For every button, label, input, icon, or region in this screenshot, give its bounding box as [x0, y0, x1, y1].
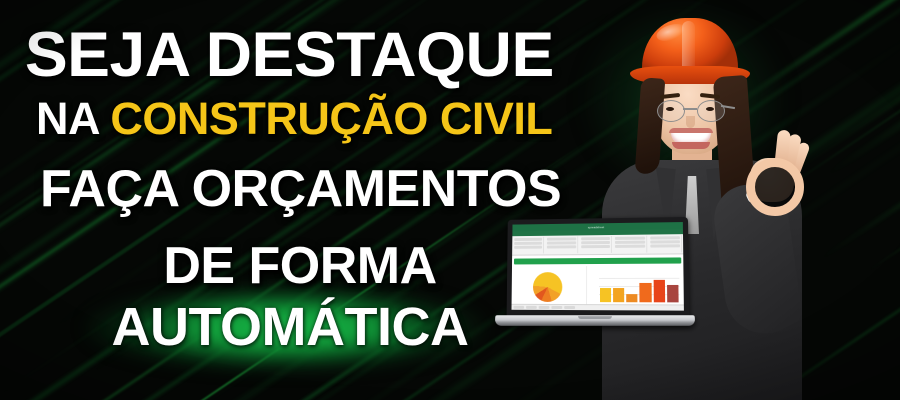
sheet-tab: [551, 306, 562, 309]
upper-lip: [669, 128, 713, 133]
eye-left: [666, 107, 674, 111]
headline-line-3: FAÇA ORÇAMENTOS: [40, 163, 561, 215]
ribbon-group: [649, 235, 682, 252]
sheet-tab: [539, 306, 550, 309]
headline-line-2-highlight: CONSTRUÇÃO CIVIL: [110, 93, 552, 144]
bar-chart-bar: [653, 280, 665, 303]
ribbon-button: [615, 237, 645, 240]
headline-line-2: NA CONSTRUÇÃO CIVIL: [36, 96, 552, 141]
laptop-notch: [578, 316, 612, 319]
ribbon-button: [547, 245, 576, 248]
lower-lip: [672, 142, 710, 149]
ok-hand-icon: [736, 128, 806, 206]
person-construction-engineer: [560, 0, 900, 400]
ribbon-button: [514, 242, 542, 245]
laptop-lid: spreadsheet: [507, 217, 690, 319]
ribbon-button: [581, 245, 610, 248]
ribbon-button: [650, 236, 680, 239]
ribbon-button: [581, 241, 610, 244]
bar-chart-bars: [600, 278, 679, 303]
eyeglasses-bridge: [683, 108, 697, 110]
bar-chart-bar: [667, 285, 679, 302]
promo-banner: SEJA DESTAQUE NA CONSTRUÇÃO CIVIL FAÇA O…: [0, 0, 900, 400]
headline-block: SEJA DESTAQUE NA CONSTRUÇÃO CIVIL FAÇA O…: [0, 0, 600, 400]
ribbon-group: [546, 236, 578, 253]
laptop-screen: spreadsheet: [512, 222, 684, 311]
headline-line-5: AUTOMÁTICA: [0, 300, 580, 354]
laptop-base: [495, 315, 696, 326]
bar-chart-bar: [626, 294, 637, 302]
sheet-header-banner: [514, 257, 681, 264]
sheet-tabs: [512, 304, 684, 311]
pie-chart-disc: [533, 272, 563, 302]
eye-right: [706, 107, 714, 111]
ribbon-button: [581, 237, 610, 240]
spreadsheet-ribbon: [512, 234, 683, 256]
ribbon-group: [513, 237, 544, 254]
laptop: spreadsheet: [495, 218, 695, 338]
ribbon-button: [615, 241, 645, 244]
ribbon-button: [547, 241, 576, 244]
ribbon-button: [650, 240, 680, 243]
bar-chart-bar: [600, 288, 611, 302]
ribbon-button: [514, 246, 542, 249]
worksheet: [512, 255, 684, 304]
ribbon-button: [650, 244, 680, 247]
ribbon-group: [580, 236, 612, 253]
bar-chart-bar: [613, 288, 624, 303]
sheet-tab: [526, 306, 537, 309]
eyeglasses-lens-right: [697, 100, 725, 122]
bar-chart-bar: [640, 283, 652, 302]
sheet-tab: [564, 306, 575, 309]
headline-line-1: SEJA DESTAQUE: [25, 24, 554, 87]
ok-ring: [746, 158, 804, 216]
eyeglasses-lens-left: [657, 100, 685, 122]
ribbon-button: [615, 245, 645, 248]
ribbon-group: [614, 236, 647, 253]
ribbon-button: [514, 238, 542, 241]
ribbon-button: [547, 237, 576, 240]
sheet-tab: [513, 306, 524, 309]
headline-line-2-plain: NA: [36, 93, 110, 144]
nose: [686, 116, 695, 128]
